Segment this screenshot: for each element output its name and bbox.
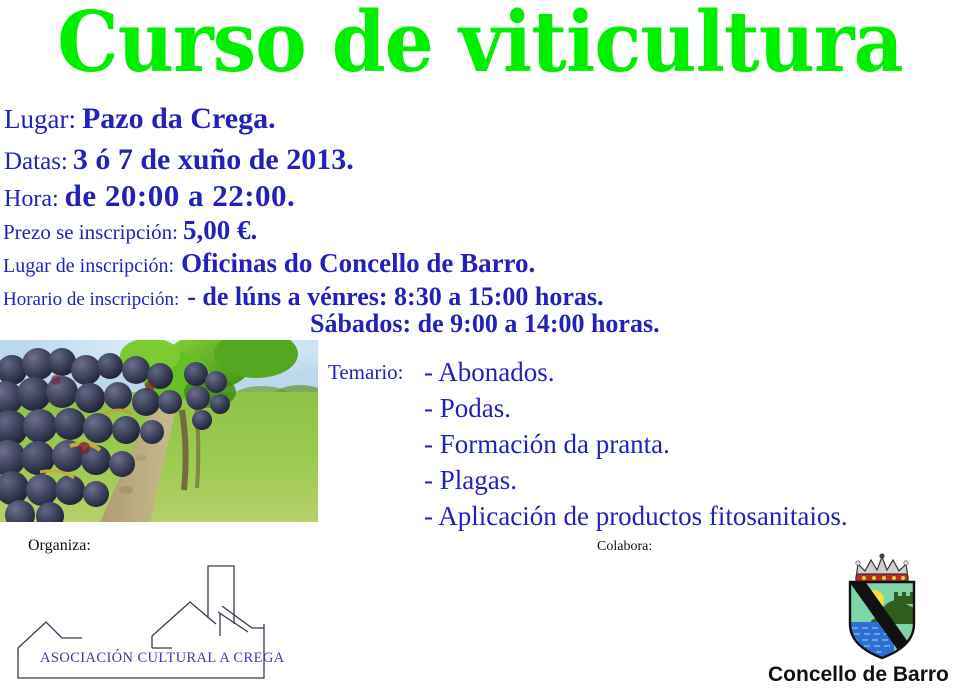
info-value-hora: de 20:00 a 22:00. xyxy=(65,178,296,213)
asociacion-cultural-logo-text: ASOCIACIÓN CULTURAL A CREGA xyxy=(40,650,285,667)
temario-label: Temario: xyxy=(328,360,404,385)
list-item: - Plagas. xyxy=(424,462,848,498)
info-line-datas: Datas:3 ó 7 de xuño de 2013. xyxy=(4,145,354,175)
list-item: - Formación da pranta. xyxy=(424,426,848,462)
info-line-lugar-inscripcion: Lugar de inscripción:Oficinas do Concell… xyxy=(3,250,535,277)
info-value-horario-inscripcion: - de lúns a vénres: 8:30 a 15:00 horas. xyxy=(187,282,603,311)
info-label-datas: Datas: xyxy=(4,148,68,175)
shield-field xyxy=(848,580,922,660)
vineyard-photo-svg xyxy=(0,340,318,522)
info-value-lugar-inscripcion: Oficinas do Concello de Barro. xyxy=(181,248,535,278)
info-label-lugar: Lugar: xyxy=(4,104,76,134)
concello-coat-of-arms-icon xyxy=(836,552,928,662)
page-title: Curso de viticultura xyxy=(34,0,927,90)
info-line-hora: Hora:de 20:00 a 22:00. xyxy=(4,180,295,211)
info-label-hora: Hora: xyxy=(4,186,59,212)
info-label-prezo: Prezo se inscripción: xyxy=(3,220,178,244)
info-line-sabados: Sábados: de 9:00 a 14:00 horas. xyxy=(310,311,660,337)
list-item: - Abonados. xyxy=(424,354,848,390)
coat-of-arms-svg xyxy=(836,552,928,662)
organiza-label: Organiza: xyxy=(28,537,91,555)
concello-caption: Concello de Barro xyxy=(768,663,949,687)
info-label-lugar-inscripcion: Lugar de inscripción: xyxy=(3,255,174,277)
list-item: - Podas. xyxy=(424,390,848,426)
info-line-horario-inscripcion: Horario de inscripción:- de lúns a vénre… xyxy=(3,284,603,310)
info-label-horario-inscripcion: Horario de inscripción: xyxy=(3,289,179,310)
vineyard-grapes-photo xyxy=(0,340,318,522)
info-value-lugar: Pazo da Crega. xyxy=(82,102,276,135)
temario-list: - Abonados. - Podas. - Formación da pran… xyxy=(424,354,848,534)
info-value-datas: 3 ó 7 de xuño de 2013. xyxy=(73,143,354,176)
info-line-lugar: Lugar:Pazo da Crega. xyxy=(4,104,276,134)
colabora-label: Colabora: xyxy=(597,539,652,555)
info-value-prezo: 5,00 €. xyxy=(183,215,257,245)
info-line-prezo: Prezo se inscripción:5,00 €. xyxy=(3,217,257,244)
list-item: - Aplicación de productos fitosanitaios. xyxy=(424,498,848,534)
